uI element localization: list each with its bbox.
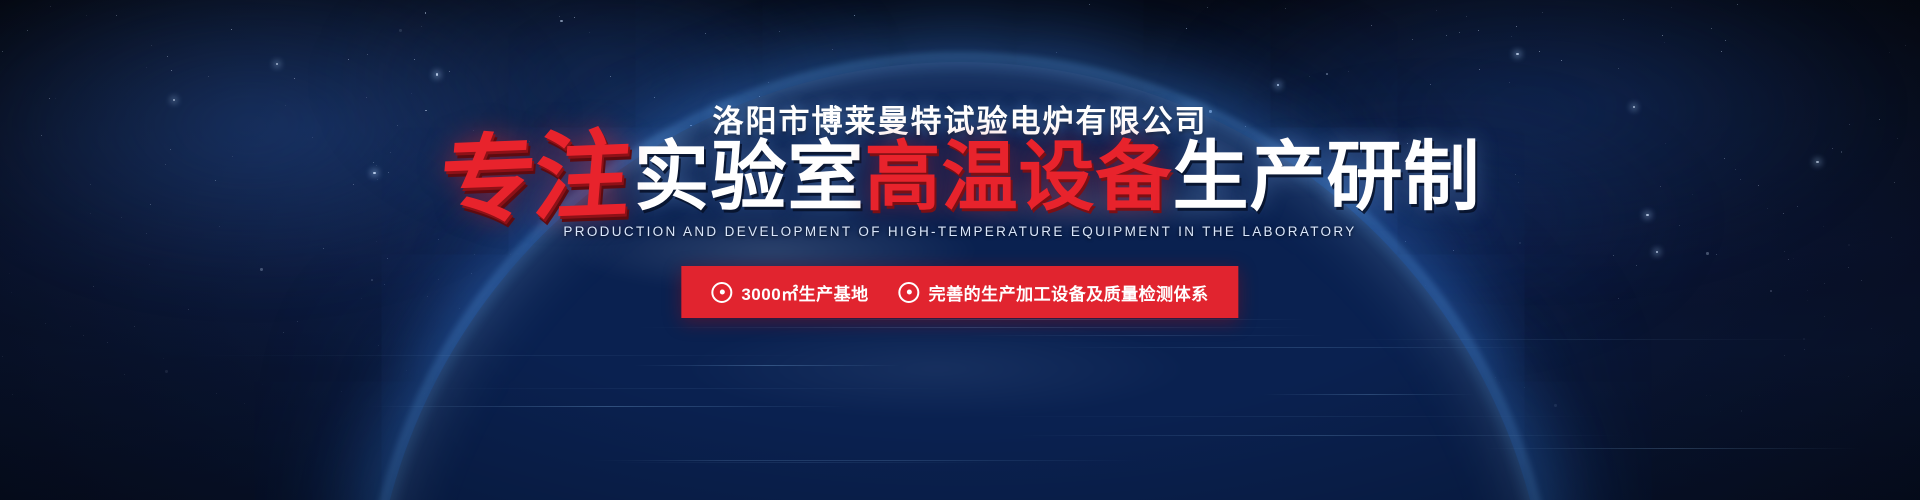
- feature-badge-bar: 3000㎡生产基地 完善的生产加工设备及质量检测体系: [681, 266, 1238, 318]
- feature-badge-2: 完善的生产加工设备及质量检测体系: [899, 280, 1209, 305]
- feature-badge-2-label: 完善的生产加工设备及质量检测体系: [929, 280, 1209, 305]
- english-subtitle: PRODUCTION AND DEVELOPMENT OF HIGH-TEMPE…: [0, 224, 1920, 239]
- banner-content: 洛阳市博莱曼特试验电炉有限公司 专注 实验室 高温设备 生产研制 PRODUCT…: [0, 0, 1920, 500]
- hero-banner: BLMT 洛阳市博莱曼特试验电炉有限公司 专注 实验室 高温设备 生产研制 PR…: [0, 0, 1920, 500]
- headline-white-part-2: 生产研制: [1173, 140, 1481, 216]
- feature-badge-1-label: 3000㎡生产基地: [741, 280, 868, 305]
- headline-red-part: 高温设备: [865, 140, 1173, 216]
- target-ring-icon: [711, 282, 732, 303]
- headline-white-part-1: 实验室: [634, 140, 865, 216]
- feature-badge-1: 3000㎡生产基地: [711, 280, 868, 305]
- target-ring-icon: [899, 282, 920, 303]
- headline: 专注 实验室 高温设备 生产研制: [0, 132, 1920, 224]
- headline-brush-word: 专注: [435, 126, 632, 229]
